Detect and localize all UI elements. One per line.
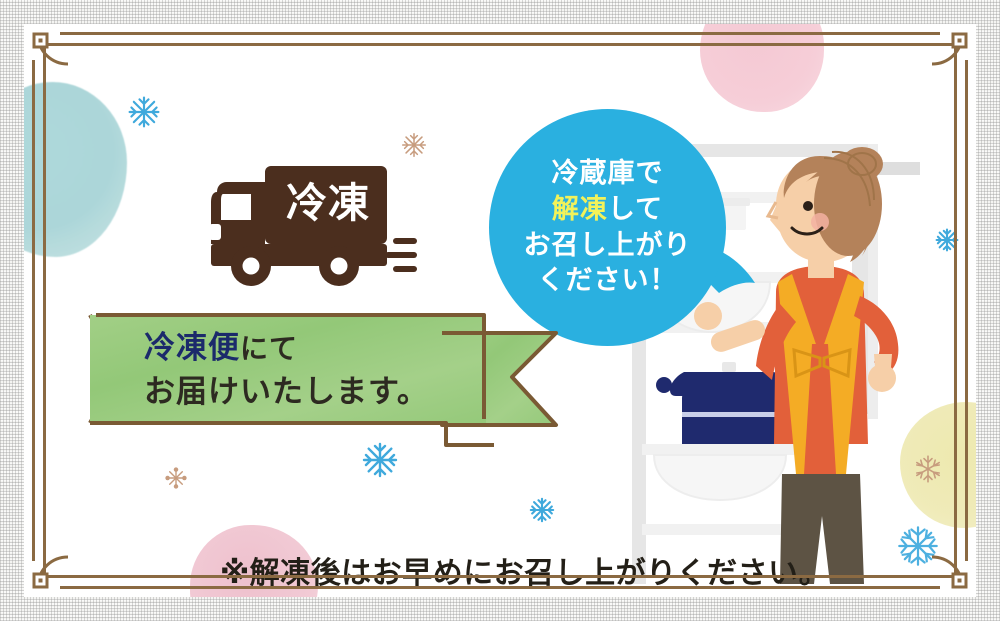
eye bbox=[803, 201, 813, 211]
bubble-line-4: ください！ bbox=[538, 263, 678, 299]
snowflake-tan-1 bbox=[399, 130, 429, 164]
snowflake-blue-3 bbox=[528, 496, 556, 528]
fridge-bowl-lower bbox=[654, 455, 786, 500]
poster-root: 冷凍 冷蔵庫で 解凍して お召し上がり ください！ bbox=[0, 0, 1000, 621]
watercolor-blob-pink-top bbox=[700, 24, 824, 112]
ribbon-line-1: 冷凍便にて bbox=[144, 329, 484, 369]
sparkle-tan-1 bbox=[162, 464, 190, 496]
snowflake-blue-4 bbox=[934, 227, 960, 257]
snowflake-tan-2 bbox=[912, 453, 944, 489]
ribbon-line-1-rest: にて bbox=[240, 332, 298, 365]
poster-card: 冷凍 冷蔵庫で 解凍して お召し上がり ください！ bbox=[24, 24, 976, 597]
green-ribbon-banner: 冷凍便にて お届けいたします。 bbox=[86, 307, 566, 449]
thaw-note-caption: ※解凍後はお早めにお召し上がりください。 bbox=[220, 548, 840, 592]
bubble-line-1: 冷蔵庫で bbox=[552, 156, 664, 192]
snowflake-blue-5 bbox=[896, 524, 940, 572]
truck-label-text: 冷凍 bbox=[273, 170, 383, 236]
bubble-line-3: お召し上がり bbox=[524, 228, 692, 264]
bubble-highlight-thaw: 解凍 bbox=[552, 194, 608, 225]
ribbon-text-block: 冷凍便にて お届けいたします。 bbox=[144, 329, 484, 412]
ribbon-line-2: お届けいたします。 bbox=[144, 373, 484, 413]
watercolor-blob-teal bbox=[24, 82, 127, 257]
bubble-line-2-rest: して bbox=[608, 194, 663, 225]
snowflake-blue-1 bbox=[126, 94, 162, 134]
bubble-line-2: 解凍して bbox=[552, 192, 663, 228]
frozen-delivery-truck: 冷凍 bbox=[207, 162, 417, 297]
ribbon-highlight-frozen-delivery: 冷凍便 bbox=[144, 330, 240, 366]
speed-lines bbox=[385, 238, 417, 272]
